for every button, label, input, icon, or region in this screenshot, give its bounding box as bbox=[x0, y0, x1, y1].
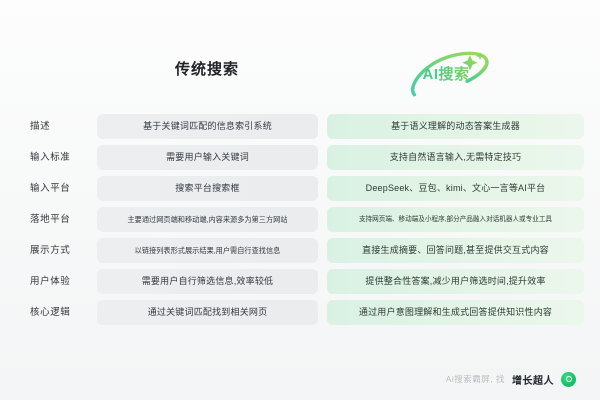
table-row: 用户体验 需要用户自行筛选信息,效率较低 提供整合性答案,减少用户筛选时间,提升… bbox=[0, 269, 600, 294]
footer-tagline: Ai搜索霸屏, 找 bbox=[446, 373, 505, 385]
row-label-landing-platform: 落地平台 bbox=[30, 207, 92, 232]
row-label-description: 描述 bbox=[30, 114, 92, 139]
cell-legacy-display-mode: 以链接列表形式展示结果,用户需自行查找信息 bbox=[97, 238, 318, 263]
footer-brand-name: 增长超人 bbox=[512, 372, 554, 387]
cell-ai-landing-platform: 支持网页端、移动端及小程序,部分产品融入对话机器人或专业工具 bbox=[327, 207, 584, 232]
table-row: 描述 基于关键词匹配的信息索引系统 基于语义理解的动态答案生成器 bbox=[0, 114, 600, 139]
cell-legacy-description: 基于关键词匹配的信息索引系统 bbox=[97, 114, 318, 139]
cell-legacy-input-standard: 需要用户输入关键词 bbox=[97, 145, 318, 170]
table-row: 核心逻辑 通过关键词匹配找到相关网页 通过用户意图理解和生成式回答提供知识性内容 bbox=[0, 300, 600, 325]
cell-ai-display-mode: 直接生成摘要、回答问题,甚至提供交互式内容 bbox=[327, 238, 584, 263]
row-label-display-mode: 展示方式 bbox=[30, 238, 92, 263]
row-label-user-experience: 用户体验 bbox=[30, 269, 92, 294]
comparison-table: 描述 基于关键词匹配的信息索引系统 基于语义理解的动态答案生成器 输入标准 需要… bbox=[0, 114, 600, 331]
cell-ai-input-platform: DeepSeek、豆包、kimi、文心一言等AI平台 bbox=[327, 176, 584, 201]
cell-legacy-user-experience: 需要用户自行筛选信息,效率较低 bbox=[97, 269, 318, 294]
footer-watermark: Ai搜索霸屏, 找 增长超人 bbox=[0, 368, 600, 390]
table-row: 输入标准 需要用户输入关键词 支持自然语言输入,无需特定技巧 bbox=[0, 145, 600, 170]
cell-ai-input-standard: 支持自然语言输入,无需特定技巧 bbox=[327, 145, 584, 170]
column-headers: 传统搜索 bbox=[0, 52, 600, 98]
cell-legacy-input-platform: 搜索平台搜索框 bbox=[97, 176, 318, 201]
cell-ai-user-experience: 提供整合性答案,减少用户筛选时间,提升效率 bbox=[327, 269, 584, 294]
brand-circle-icon bbox=[561, 372, 576, 387]
row-label-input-platform: 输入平台 bbox=[30, 176, 92, 201]
comparison-infographic: 传统搜索 bbox=[0, 0, 600, 400]
header-legacy-search: 传统搜索 bbox=[95, 58, 319, 79]
cell-legacy-landing-platform: 主要通过网页端和移动端,内容来源多为第三方网站 bbox=[97, 207, 318, 232]
row-label-input-standard: 输入标准 bbox=[30, 145, 92, 170]
table-row: 落地平台 主要通过网页端和移动端,内容来源多为第三方网站 支持网页端、移动端及小… bbox=[0, 207, 600, 232]
table-row: 输入平台 搜索平台搜索框 DeepSeek、豆包、kimi、文心一言等AI平台 bbox=[0, 176, 600, 201]
header-ai-search-label: AI搜索 bbox=[406, 63, 486, 84]
header-ai-search: AI搜索 bbox=[327, 48, 585, 98]
cell-ai-description: 基于语义理解的动态答案生成器 bbox=[327, 114, 584, 139]
table-row: 展示方式 以链接列表形式展示结果,用户需自行查找信息 直接生成摘要、回答问题,甚… bbox=[0, 238, 600, 263]
cell-ai-core-logic: 通过用户意图理解和生成式回答提供知识性内容 bbox=[327, 300, 584, 325]
cell-legacy-core-logic: 通过关键词匹配找到相关网页 bbox=[97, 300, 318, 325]
row-label-core-logic: 核心逻辑 bbox=[30, 300, 92, 325]
